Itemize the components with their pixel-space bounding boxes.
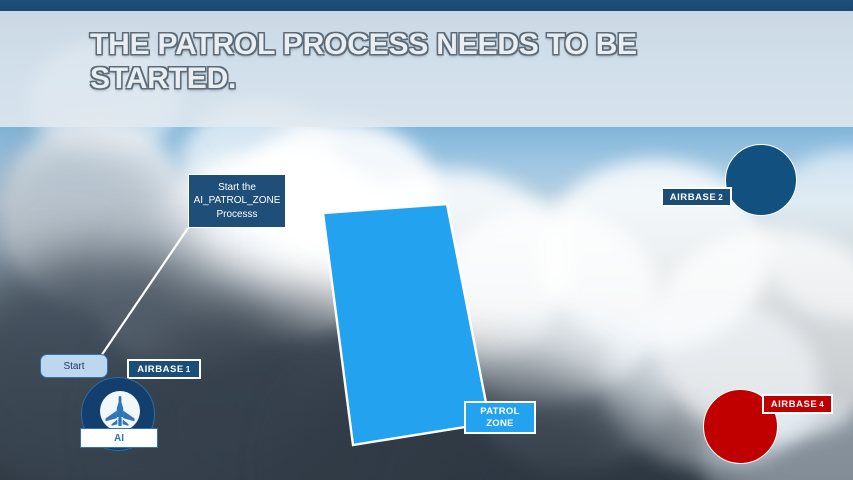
airbase-2-number: 2 <box>718 193 723 202</box>
airbase-1-label: AIRBASE 1 <box>127 359 201 379</box>
fighter-jet-icon <box>100 391 140 431</box>
callout-box: Start the AI_PATROL_ZONE Processs <box>188 174 286 228</box>
airbase-4-number: 4 <box>819 400 824 409</box>
airbase-2-name: AIRBASE <box>670 192 717 203</box>
patrol-zone-label-line-1: PATROL <box>480 406 519 418</box>
ai-icon-disc <box>100 391 140 431</box>
callout-line-3: Processs <box>216 208 257 222</box>
ai-node-label: AI <box>80 428 158 448</box>
airbase-4-name: AIRBASE <box>771 399 818 410</box>
patrol-zone-label-line-2: ZONE <box>486 418 514 430</box>
start-button[interactable]: Start <box>40 354 108 378</box>
ai-node-label-text: AI <box>114 433 124 444</box>
airbase-4-label: AIRBASE 4 <box>762 394 833 414</box>
patrol-zone-label: PATROL ZONE <box>464 401 536 434</box>
callout-line-2: AI_PATROL_ZONE <box>194 194 281 208</box>
top-accent-strip <box>0 0 853 11</box>
airbase-1-name: AIRBASE <box>137 364 184 375</box>
slide-canvas: THE PATROL PROCESS NEEDS TO BE STARTED. … <box>0 0 853 480</box>
page-title: THE PATROL PROCESS NEEDS TO BE STARTED. <box>90 28 730 95</box>
airbase-1-number: 1 <box>186 365 191 374</box>
airbase-2-circle[interactable] <box>725 144 797 216</box>
callout-line-1: Start the <box>218 181 256 195</box>
start-button-label: Start <box>63 361 84 372</box>
airbase-2-label: AIRBASE 2 <box>661 187 732 207</box>
